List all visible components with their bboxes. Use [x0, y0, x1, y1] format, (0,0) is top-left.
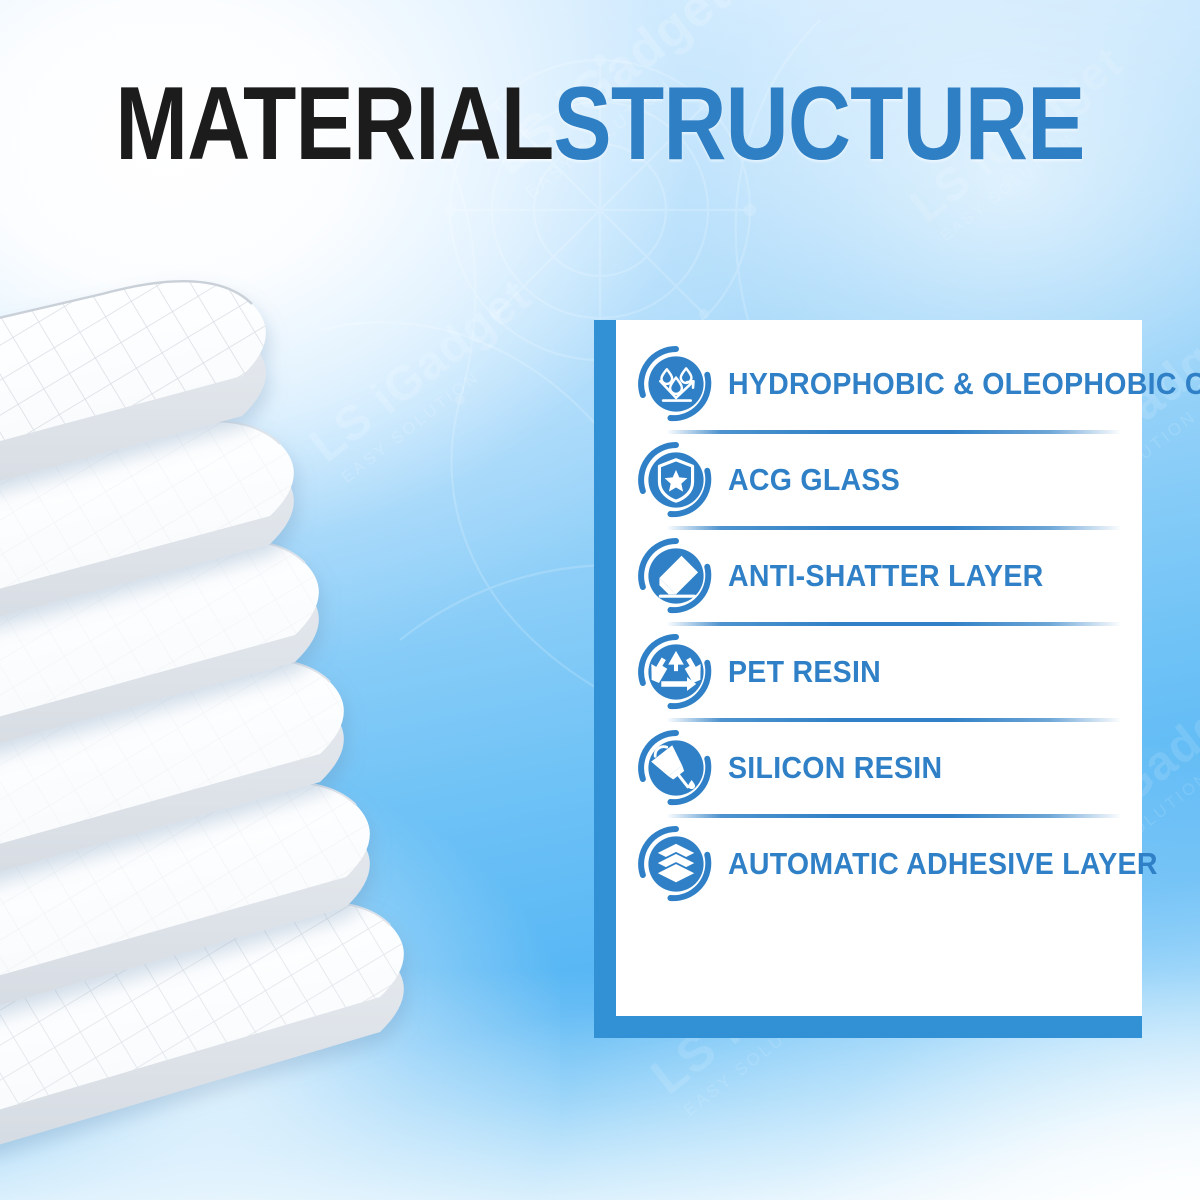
shield-star-icon — [630, 434, 722, 526]
water-droplet-repellent-icon — [630, 338, 722, 430]
film-sheet-icon — [630, 530, 722, 622]
recycle-icon — [630, 626, 722, 718]
pouring-bucket-icon — [630, 722, 722, 814]
feature-item-automatic-adhesive-layer[interactable]: AUTOMATIC ADHESIVE LAYER — [630, 818, 1136, 910]
panel-bottom-border — [594, 1016, 1142, 1038]
feature-label: PET RESIN — [728, 656, 881, 689]
feature-label: HYDROPHOBIC & OLEOPHOBIC COATING — [728, 368, 1200, 401]
stacked-layers-icon — [630, 818, 722, 910]
feature-item-hydrophobic-oleophobic-coating[interactable]: HYDROPHOBIC & OLEOPHOBIC COATING — [630, 338, 1136, 430]
feature-label: ACG GLASS — [728, 464, 900, 497]
panel-left-border — [594, 320, 616, 1038]
feature-item-silicon-resin[interactable]: SILICON RESIN — [630, 722, 1136, 814]
feature-item-acg-glass[interactable]: ACG GLASS — [630, 434, 1136, 526]
feature-panel: HYDROPHOBIC & OLEOPHOBIC COATING ACG GLA… — [594, 320, 1142, 1038]
title-word-material: MATERIAL — [115, 66, 553, 182]
feature-label: ANTI-SHATTER LAYER — [728, 560, 1044, 593]
feature-item-anti-shatter-layer[interactable]: ANTI-SHATTER LAYER — [630, 530, 1136, 622]
feature-list: HYDROPHOBIC & OLEOPHOBIC COATING ACG GLA… — [616, 320, 1142, 1016]
title-word-structure: STRUCTURE — [553, 66, 1084, 182]
feature-label: AUTOMATIC ADHESIVE LAYER — [728, 848, 1158, 881]
page-title: MATERIALSTRUCTURE — [0, 72, 1200, 176]
feature-item-pet-resin[interactable]: PET RESIN — [630, 626, 1136, 718]
infographic-poster: LS iGadget EASY SOLUTION LS iGadget EASY… — [0, 0, 1200, 1200]
feature-label: SILICON RESIN — [728, 752, 942, 785]
